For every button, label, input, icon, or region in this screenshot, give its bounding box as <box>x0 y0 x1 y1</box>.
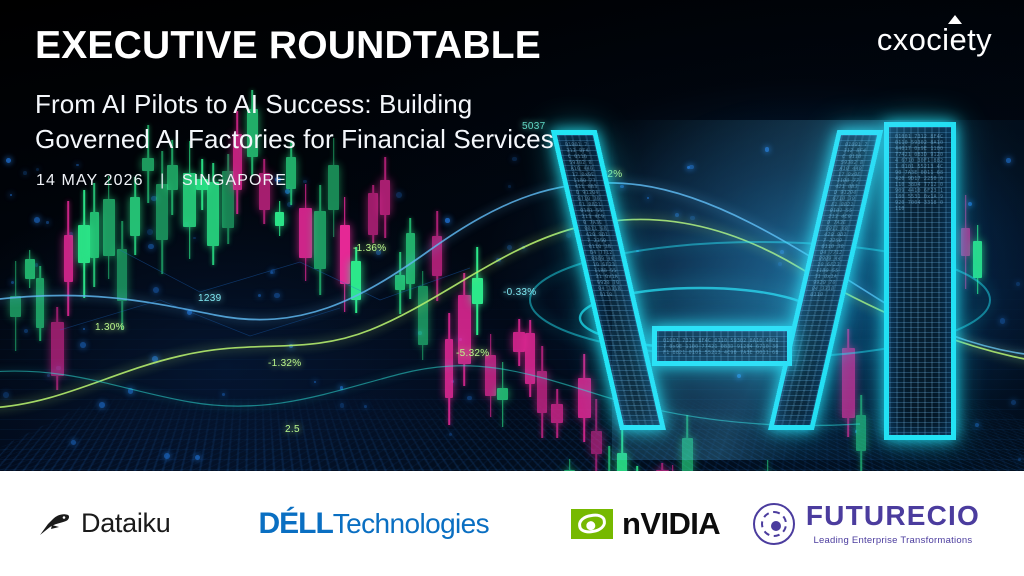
cxociety-triangle-icon <box>948 15 962 24</box>
event-date: 14 MAY 2026 <box>36 172 144 189</box>
letter-i-glyph: 01001 7312 8F4C 0110 59302 8A10 44017 0x… <box>884 122 958 440</box>
chart-value-label: -0.33% <box>503 287 537 298</box>
subtitle-line-2: Governed AI Factories for Financial Serv… <box>35 122 554 157</box>
chart-value-label: -1.36% <box>353 243 387 254</box>
dell-wordmark: DÉLL <box>258 507 332 541</box>
chart-value-label: -5.32% <box>456 348 490 359</box>
ai-3d-lettering: 01001 7312 8F4C 0110 59302 8A10 44017 0x… <box>612 120 1024 460</box>
bird-icon <box>38 510 72 538</box>
sponsor-logo-futurecio[interactable]: FUTURECIO Leading Enterprise Transformat… <box>753 502 980 546</box>
event-subtitle: From AI Pilots to AI Success: Building G… <box>35 87 554 156</box>
dell-technologies-word: Technologies <box>333 508 489 540</box>
meta-separator: | <box>149 172 176 190</box>
chart-value-label: -1.32% <box>268 358 302 369</box>
event-meta: 14 MAY 2026 | SINGAPORE <box>36 172 287 190</box>
chart-value-label: 1239 <box>198 293 221 304</box>
code-texture-a-right: 01001 7312 8F4C 0110 59302 8A10 44017 0x… <box>780 140 871 420</box>
nvidia-wordmark: nVIDIA <box>622 506 720 542</box>
event-location: SINGAPORE <box>182 172 287 189</box>
chart-value-label: 2.5 <box>285 424 300 435</box>
futurecio-wordmark: FUTURECIO <box>806 500 980 531</box>
futurecio-text-block: FUTURECIO Leading Enterprise Transformat… <box>806 502 980 546</box>
letter-a-glyph: 01001 7312 8F4C 0110 59302 8A10 44017 0x… <box>618 130 850 430</box>
chart-value-label: 1.30% <box>95 322 125 333</box>
page-title: EXECUTIVE ROUNDTABLE <box>35 26 541 67</box>
sponsor-logo-row: Dataiku DÉLL Technologies nVIDIA FUTUREC… <box>0 502 1024 546</box>
event-banner: 1.30%1239-1.32%2.5-1.36%5037-1.32%-0.33%… <box>0 0 1024 576</box>
sponsor-logo-dell[interactable]: DÉLL Technologies <box>258 507 489 541</box>
futurecio-tagline: Leading Enterprise Transformations <box>806 535 980 546</box>
sponsor-footer: Dataiku DÉLL Technologies nVIDIA FUTUREC… <box>0 471 1024 576</box>
dataiku-wordmark: Dataiku <box>81 508 170 539</box>
sponsor-logo-nvidia[interactable]: nVIDIA <box>571 506 720 542</box>
code-texture-i-stem: 01001 7312 8F4C 0110 59302 8A10 44017 0x… <box>894 132 946 430</box>
nvidia-eye-icon <box>571 509 613 539</box>
futurecio-orbit-icon <box>753 503 795 545</box>
sponsor-logo-dataiku[interactable]: Dataiku <box>38 508 170 539</box>
cxociety-wordmark: cxociety <box>877 22 992 57</box>
code-texture-a-bar: 01001 7312 8F4C 0110 59302 8A10 44017 0x… <box>662 336 782 356</box>
hero-background: 1.30%1239-1.32%2.5-1.36%5037-1.32%-0.33%… <box>0 0 1024 471</box>
cxociety-logo[interactable]: cxociety <box>877 24 992 55</box>
subtitle-line-1: From AI Pilots to AI Success: Building <box>35 87 554 122</box>
